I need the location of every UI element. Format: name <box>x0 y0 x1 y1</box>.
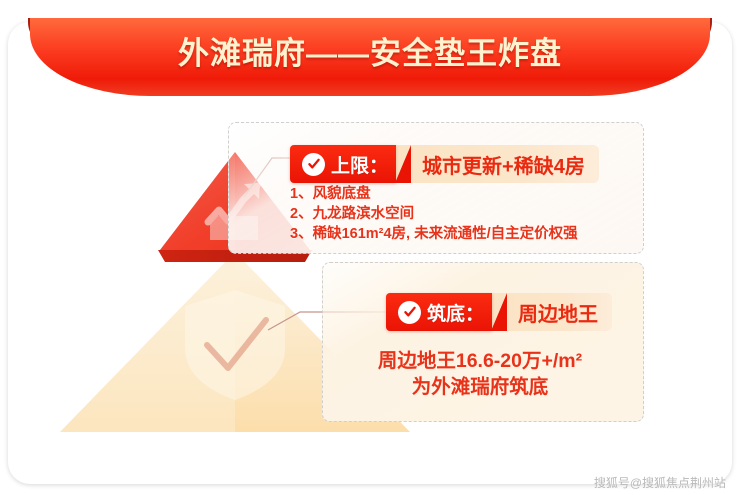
ribbon-body: 外滩瑞府——安全垫王炸盘 <box>30 18 710 96</box>
upper-section-pill: 上限： 城市更新+稀缺4房 <box>290 145 599 183</box>
bullet-item: 1、风貌底盘 <box>290 184 640 204</box>
bullet-item: 3、稀缺161m²4房, 未来流通性/自主定价权强 <box>290 224 640 244</box>
watermark: 搜狐号@搜狐焦点荆州站 <box>594 474 726 491</box>
check-circle-icon <box>398 301 421 324</box>
upper-pill-red: 上限： <box>290 145 396 183</box>
lower-statement-line-2: 为外滩瑞府筑底 <box>330 374 630 400</box>
upper-pill-value: 城市更新+稀缺4房 <box>422 150 585 179</box>
lower-section-pill: 筑底： 周边地王 <box>386 293 612 331</box>
lower-pill-value-box: 周边地王 <box>492 293 612 331</box>
bullet-item: 2、九龙路滨水空间 <box>290 204 640 224</box>
upper-pill-label: 上限： <box>331 151 388 178</box>
lower-pill-label: 筑底： <box>427 299 484 326</box>
screenshot-root: 外滩瑞府——安全垫王炸盘 上限： 城市更新+稀缺4房 1、风貌底盘 2、九龙路滨… <box>0 0 740 495</box>
lower-statement-block: 周边地王16.6-20万+/m² 为外滩瑞府筑底 <box>330 348 630 400</box>
lower-pill-value: 周边地王 <box>518 298 598 327</box>
lower-statement-line-1: 周边地王16.6-20万+/m² <box>330 348 630 374</box>
check-circle-icon <box>302 153 325 176</box>
upper-pill-value-box: 城市更新+稀缺4房 <box>396 145 599 183</box>
upper-bullet-list: 1、风貌底盘 2、九龙路滨水空间 3、稀缺161m²4房, 未来流通性/自主定价… <box>290 184 640 244</box>
page-title: 外滩瑞府——安全垫王炸盘 <box>178 28 562 73</box>
lower-pill-red: 筑底： <box>386 293 492 331</box>
title-banner: 外滩瑞府——安全垫王炸盘 <box>0 18 740 90</box>
